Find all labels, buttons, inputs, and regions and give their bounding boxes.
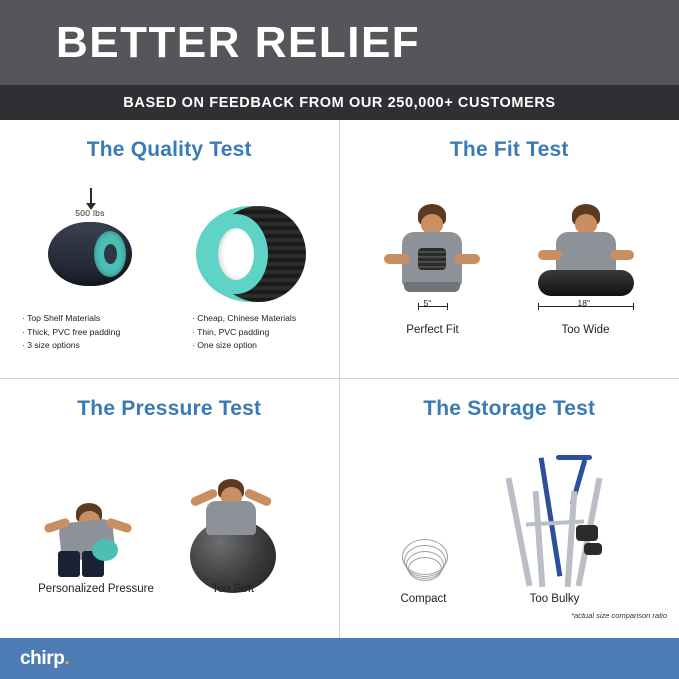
list-item: · Cheap, Chinese Materials (192, 312, 296, 326)
too-bulky-caption: Too Bulky (485, 593, 625, 605)
list-item: · Top Shelf Materials (22, 312, 120, 326)
header-banner: BETTER RELIEF (0, 0, 679, 85)
fit-test-cell: The Fit Test 5" Perfect Fit (340, 120, 679, 379)
wheel-hub (104, 244, 117, 264)
storage-test-title: The Storage Test (340, 397, 679, 421)
storage-footnote: *actual size comparison ratio (571, 611, 667, 620)
pressure-test-body: Personalized Pressure Too Soft (0, 421, 339, 626)
competitor-wheel-hole (218, 228, 254, 280)
compact-caption: Compact (354, 593, 494, 605)
subheader-text: BASED ON FEEDBACK FROM OUR 250,000+ CUST… (123, 95, 555, 111)
comparison-grid: The Quality Test 500 lbs · Top S (0, 120, 679, 638)
infographic-page: BETTER RELIEF BASED ON FEEDBACK FROM OUR… (0, 0, 679, 679)
fit-measure-left: 5" (424, 298, 432, 308)
perfect-fit-caption: Perfect Fit (363, 324, 503, 336)
storage-test-body: Compact Too Bulky *actual size compariso… (340, 421, 679, 626)
fit-test-body: 5" Perfect Fit 18" Too Wide (340, 162, 679, 367)
personalized-pressure-caption: Personalized Pressure (26, 583, 166, 595)
list-item: · Thin, PVC padding (192, 326, 296, 340)
pressure-test-title: The Pressure Test (0, 397, 339, 421)
brand-logo: chirp. (20, 648, 69, 670)
brand-name: chirp (20, 648, 64, 669)
competitor-wheel-image (196, 206, 306, 302)
quality-test-body: 500 lbs · Top Shelf Materials · Thick, P… (0, 162, 339, 367)
quality-left-bullets: · Top Shelf Materials · Thick, PVC free … (22, 312, 120, 353)
footer-bar: chirp. (0, 638, 679, 679)
brand-dot: . (64, 648, 69, 669)
list-item: · One size option (192, 339, 296, 353)
quality-right-bullets: · Cheap, Chinese Materials · Thin, PVC p… (192, 312, 296, 353)
too-wide-caption: Too Wide (516, 324, 656, 336)
weight-label: 500 lbs (40, 208, 140, 218)
quality-test-cell: The Quality Test 500 lbs · Top S (0, 120, 340, 379)
subheader-banner: BASED ON FEEDBACK FROM OUR 250,000+ CUST… (0, 85, 679, 120)
list-item: · Thick, PVC free padding (22, 326, 120, 340)
fit-test-title: The Fit Test (340, 138, 679, 162)
quality-test-title: The Quality Test (0, 138, 339, 162)
pressure-test-cell: The Pressure Test Personalized Pressure (0, 379, 340, 638)
chirp-wheel-image (48, 222, 132, 286)
fit-measure-line-left (418, 306, 448, 307)
too-soft-caption: Too Soft (163, 583, 303, 595)
fit-measure-right: 18" (578, 298, 590, 308)
page-title: BETTER RELIEF (56, 18, 420, 68)
storage-test-cell: The Storage Test Compact (340, 379, 679, 638)
list-item: · 3 size options (22, 339, 120, 353)
